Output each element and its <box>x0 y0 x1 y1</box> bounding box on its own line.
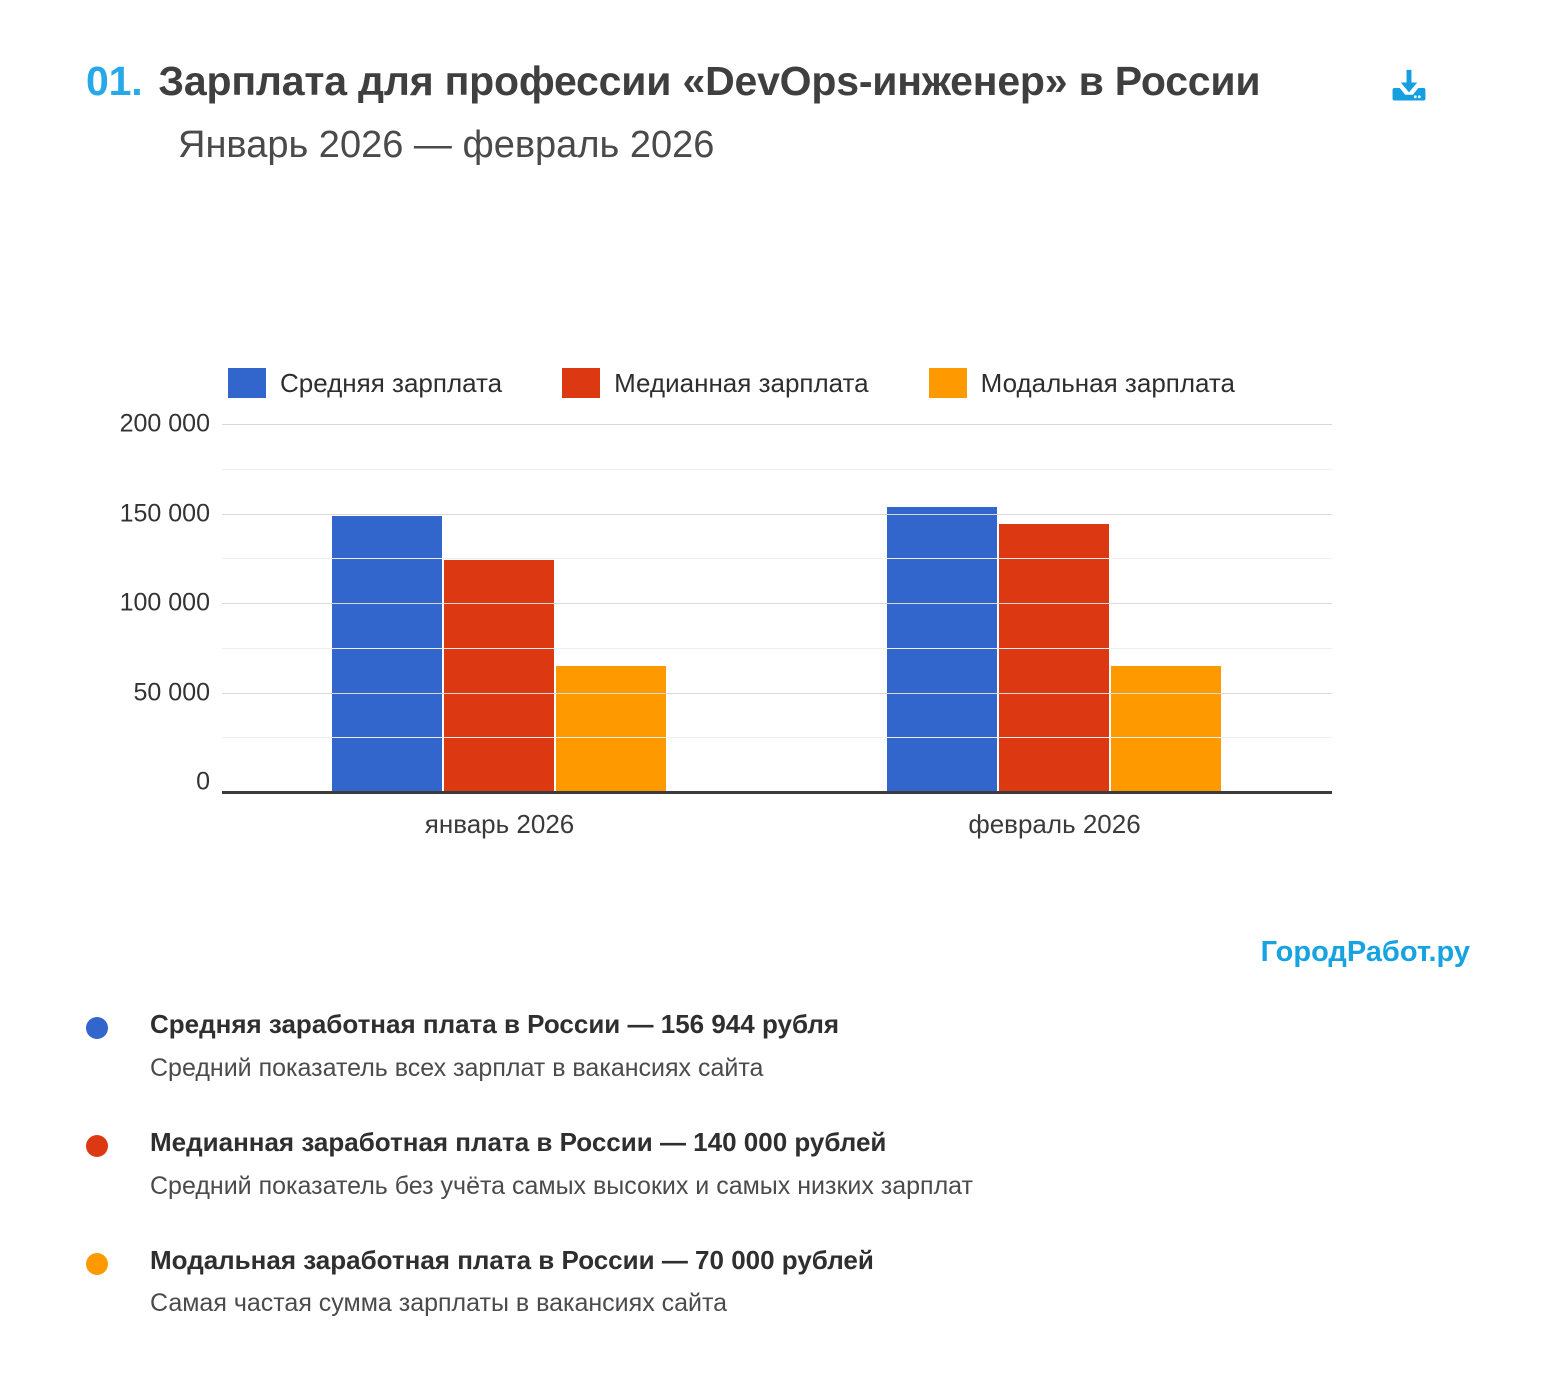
gridline-minor <box>222 469 1332 470</box>
page-title-text: Зарплата для профессии «DevOps-инженер» … <box>158 58 1260 104</box>
salary-definition-item: Средняя заработная плата в России — 156 … <box>86 1008 1186 1086</box>
download-button[interactable] <box>1382 60 1436 114</box>
bar-median[interactable] <box>444 560 554 791</box>
legend-item-modal[interactable]: Модальная зарплата <box>929 368 1235 399</box>
bar-median[interactable] <box>999 524 1109 791</box>
y-axis: 050 000100 000150 000200 000 <box>100 424 210 794</box>
page-subtitle: Январь 2026 — февраль 2026 <box>178 122 1486 170</box>
legend-label-average: Средняя зарплата <box>280 368 502 399</box>
x-axis-labels: январь 2026февраль 2026 <box>222 809 1332 849</box>
y-axis-tick-label: 150 000 <box>120 499 210 528</box>
legend-swatch-modal <box>929 368 967 398</box>
page-title: 01.Зарплата для профессии «DevOps-инжене… <box>86 54 1376 108</box>
salary-definition-item: Медианная заработная плата в России — 14… <box>86 1126 1186 1204</box>
bars-layer <box>222 421 1332 791</box>
brand-watermark[interactable]: ГородРабот.ру <box>1261 936 1470 969</box>
bar-modal[interactable] <box>1111 666 1221 791</box>
bullet-dot-icon <box>86 1017 108 1039</box>
gridline-major <box>222 424 1332 425</box>
bar-modal[interactable] <box>556 666 666 791</box>
gridline-major <box>222 693 1332 694</box>
salary-definition-subtitle: Средний показатель всех зарплат в ваканс… <box>150 1051 1186 1086</box>
bullet-dot-icon <box>86 1135 108 1157</box>
gridline-minor <box>222 558 1332 559</box>
salary-bar-chart: Средняя зарплата Медианная зарплата Мода… <box>0 360 1568 824</box>
gridline-minor <box>222 737 1332 738</box>
salary-definition-title: Модальная заработная плата в России — 70… <box>150 1244 1186 1278</box>
x-axis-tick-label: январь 2026 <box>425 809 575 840</box>
salary-definition-title: Средняя заработная плата в России — 156 … <box>150 1008 1186 1042</box>
legend-item-median[interactable]: Медианная зарплата <box>562 368 869 399</box>
y-axis-tick-label: 100 000 <box>120 589 210 618</box>
gridline-major <box>222 603 1332 604</box>
chart-plot-area: 050 000100 000150 000200 000 январь 2026… <box>0 424 1568 824</box>
y-axis-tick-label: 200 000 <box>120 410 210 439</box>
y-axis-tick-label: 50 000 <box>134 678 210 707</box>
gridline-minor <box>222 648 1332 649</box>
legend-item-average[interactable]: Средняя зарплата <box>228 368 502 399</box>
bar-average[interactable] <box>332 516 442 791</box>
section-number: 01. <box>86 58 142 104</box>
title-row: 01.Зарплата для профессии «DevOps-инжене… <box>86 54 1481 114</box>
download-icon <box>1388 66 1430 108</box>
legend-swatch-average <box>228 368 266 398</box>
bar-average[interactable] <box>887 507 997 791</box>
title-text: 01.Зарплата для профессии «DevOps-инжене… <box>86 54 1376 108</box>
legend-label-modal: Модальная зарплата <box>981 368 1235 399</box>
x-axis-tick-label: февраль 2026 <box>968 809 1140 840</box>
salary-definition-item: Модальная заработная плата в России — 70… <box>86 1244 1186 1322</box>
bullet-dot-icon <box>86 1253 108 1275</box>
salary-definition-subtitle: Самая частая сумма зарплаты в вакансиях … <box>150 1286 1186 1321</box>
y-axis-tick-label: 0 <box>196 768 210 797</box>
chart-legend: Средняя зарплата Медианная зарплата Мода… <box>0 360 1568 406</box>
salary-definition-title: Медианная заработная плата в России — 14… <box>150 1126 1186 1160</box>
chart-grid <box>222 424 1332 794</box>
legend-swatch-median <box>562 368 600 398</box>
salary-definitions-list: Средняя заработная плата в России — 156 … <box>86 1008 1186 1361</box>
gridline-major <box>222 514 1332 515</box>
page-header: 01.Зарплата для профессии «DevOps-инжене… <box>86 54 1486 170</box>
legend-label-median: Медианная зарплата <box>614 368 869 399</box>
x-axis-line <box>222 791 1332 794</box>
salary-definition-subtitle: Средний показатель без учёта самых высок… <box>150 1169 1186 1204</box>
